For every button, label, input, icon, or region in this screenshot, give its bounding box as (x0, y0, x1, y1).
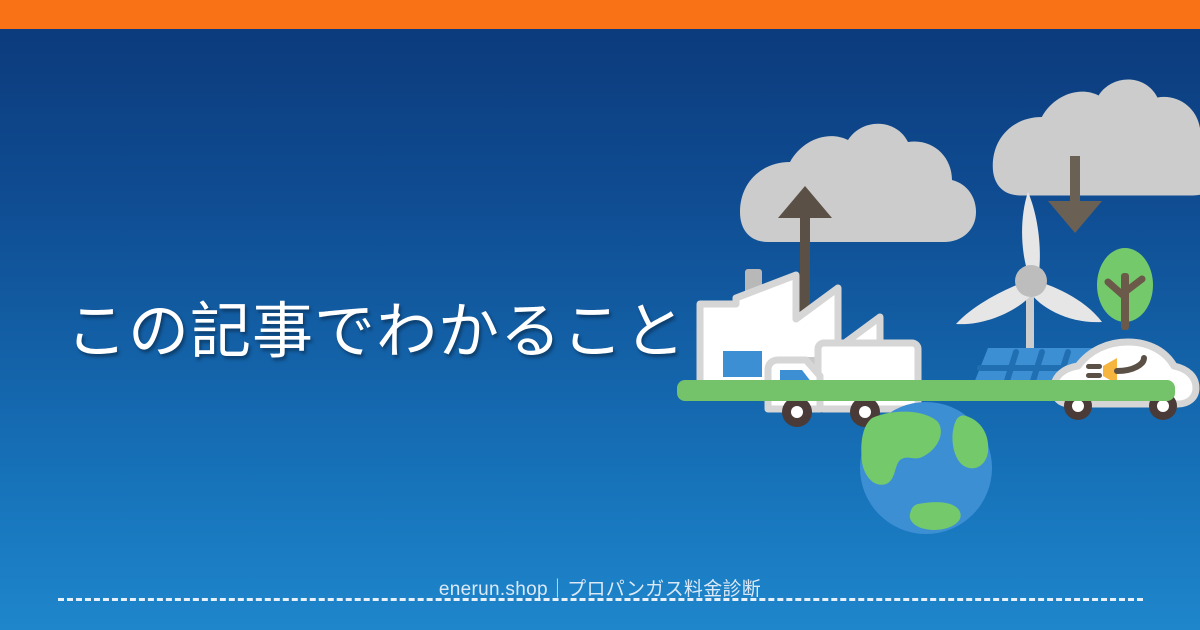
turbine-hub (1015, 265, 1047, 297)
truck-hub-front (791, 406, 803, 418)
car-hub-rear (1157, 400, 1169, 412)
cloud-shape-right (993, 80, 1200, 196)
page-title: この記事でわかること (66, 299, 666, 363)
ground-bar (677, 380, 1175, 401)
factory-window (723, 351, 762, 377)
footer-separator: ｜ (548, 579, 567, 600)
footer-branding: enerun.shop｜プロパンガス料金診断 (0, 574, 1200, 601)
tree-trunk (1121, 273, 1129, 330)
footer-brand: enerun.shop (439, 579, 548, 600)
footer-tagline: プロパンガス料金診断 (567, 579, 761, 600)
slide-canvas: この記事でわかること (0, 0, 1200, 630)
top-accent-bar (0, 0, 1200, 29)
energy-transition-illustration (650, 70, 1200, 540)
footer-divider (58, 598, 1143, 601)
cloud-shape-left (740, 124, 976, 242)
car-hub-front (1072, 400, 1084, 412)
truck-hub-rear (859, 406, 871, 418)
tree (1097, 248, 1153, 330)
earth-globe (860, 402, 992, 534)
